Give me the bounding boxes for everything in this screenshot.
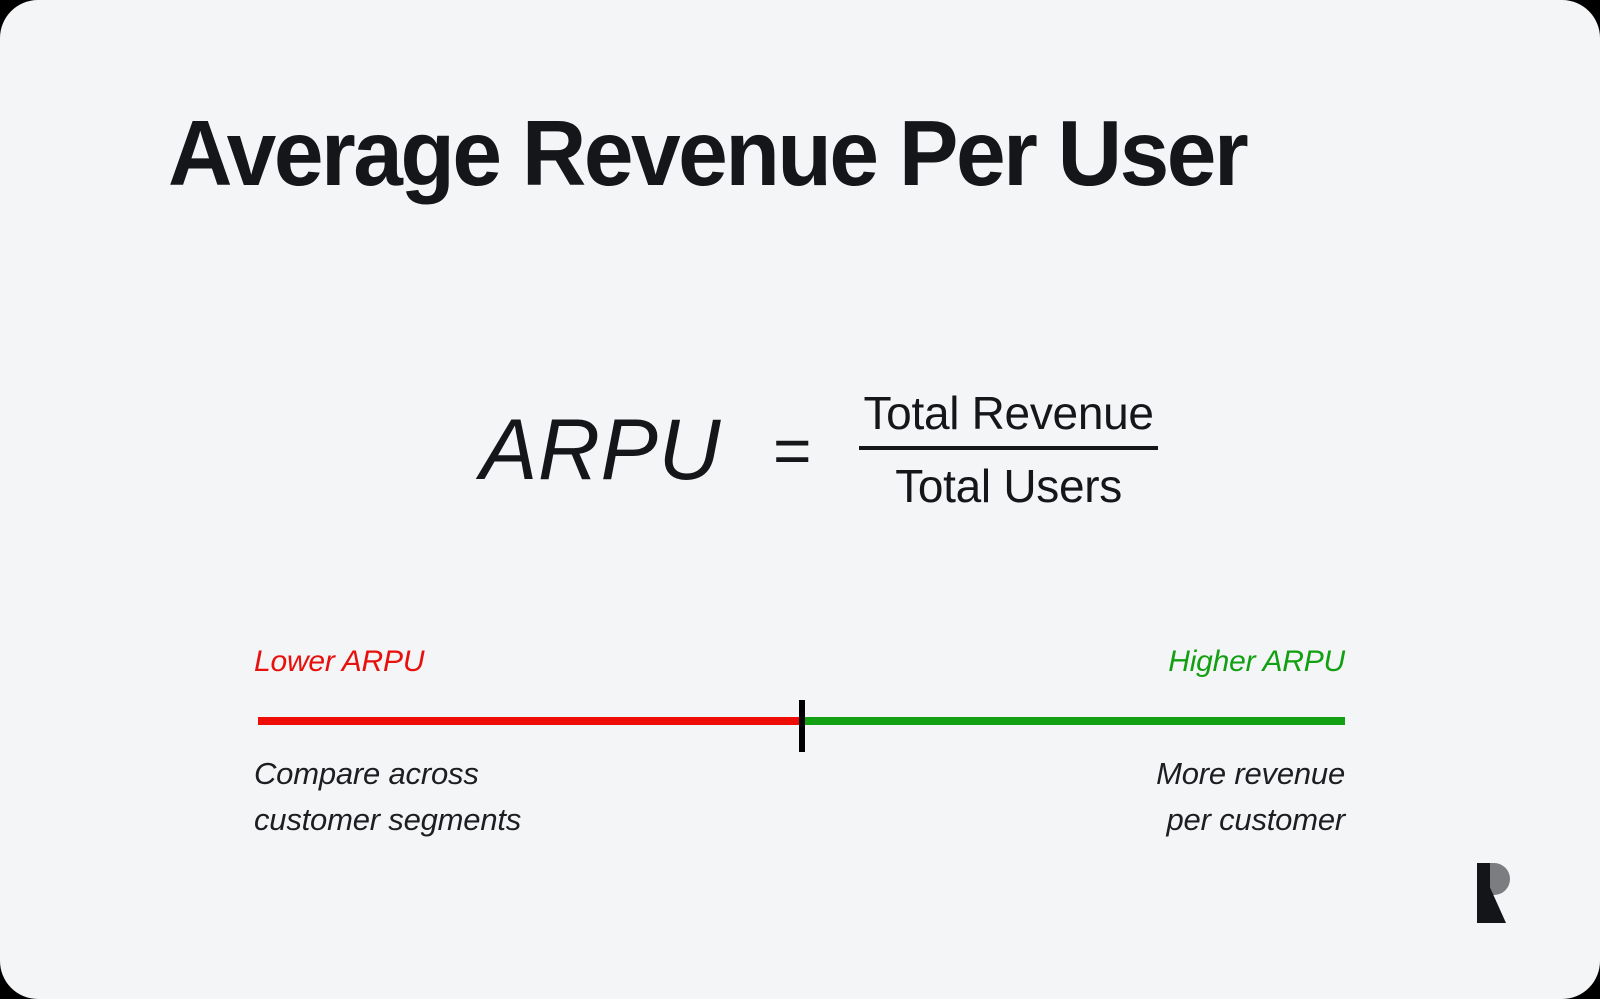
formula-equals-sign: = <box>773 417 812 483</box>
spectrum-bar <box>258 717 1345 725</box>
spectrum-bar-high-segment <box>802 717 1346 725</box>
spectrum-caption-lower-line1: Compare across <box>254 751 521 797</box>
formula-denominator: Total Users <box>891 450 1126 513</box>
spectrum-label-lower: Lower ARPU <box>254 645 424 679</box>
formula-left-hand-side: ARPU <box>480 407 721 493</box>
page-title: Average Revenue Per User <box>168 103 1387 203</box>
spectrum-captions: Compare across customer segments More re… <box>258 751 1345 851</box>
spectrum-caption-lower: Compare across customer segments <box>254 751 521 843</box>
formula-numerator: Total Revenue <box>859 386 1157 446</box>
formula-fraction: Total Revenue Total Users <box>859 386 1157 514</box>
spectrum-bar-low-segment <box>258 717 802 725</box>
spectrum-caption-higher-line2: per customer <box>1156 797 1345 843</box>
infographic-card: Average Revenue Per User ARPU = Total Re… <box>0 0 1600 999</box>
r-logo-stem <box>1477 863 1490 923</box>
spectrum-caption-lower-line2: customer segments <box>254 797 521 843</box>
r-logo <box>1466 863 1522 923</box>
spectrum-label-higher: Higher ARPU <box>1168 645 1345 679</box>
arpu-spectrum: Lower ARPU Higher ARPU Compare across cu… <box>258 645 1345 851</box>
spectrum-caption-higher-line1: More revenue <box>1156 751 1345 797</box>
spectrum-labels: Lower ARPU Higher ARPU <box>258 645 1345 695</box>
spectrum-center-tick <box>799 700 805 752</box>
spectrum-caption-higher: More revenue per customer <box>1156 751 1345 843</box>
arpu-formula: ARPU = Total Revenue Total Users <box>480 386 1158 514</box>
